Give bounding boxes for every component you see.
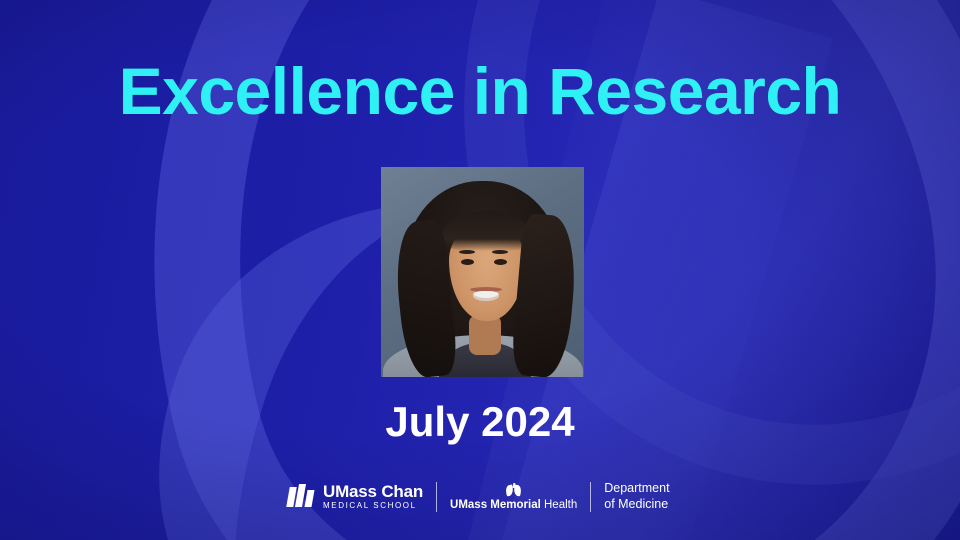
logo-divider-1 [436,482,437,512]
umass-chan-monogram-icon [288,484,316,510]
portrait-neck [469,315,501,355]
umass-chan-wordmark: UMass Chan MEDICAL SCHOOL [323,483,423,510]
umass-memorial-flame-icon [506,483,522,497]
portrait-eyebrow-right [492,250,508,254]
slide-title: Excellence in Research [0,58,960,124]
department-line-2: of Medicine [604,497,669,513]
umass-memorial-suffix: Health [544,499,577,511]
logo-divider-2 [590,482,591,512]
logo-bar: UMass Chan MEDICAL SCHOOL UMass Memorial… [288,477,680,517]
portrait-smile [473,291,499,301]
umass-chan-logo: UMass Chan MEDICAL SCHOOL [288,483,423,510]
portrait-photo [381,167,584,377]
department-of-medicine-logo: Department of Medicine [604,481,669,512]
umass-chan-subtitle: MEDICAL SCHOOL [323,502,423,510]
umass-chan-name: UMass Chan [323,483,423,501]
umass-memorial-logo: UMass Memorial Health [450,483,577,512]
portrait-eye-left [461,259,474,265]
portrait-eye-right [494,259,507,265]
portrait-eyebrow-left [459,250,475,254]
umass-memorial-name: UMass Memorial [450,499,541,511]
slide-subtitle: July 2024 [0,398,960,446]
umass-memorial-wordmark: UMass Memorial Health [450,499,577,512]
presentation-slide: Excellence in Research July 2024 UMass C… [0,0,960,540]
department-line-1: Department [604,481,669,497]
